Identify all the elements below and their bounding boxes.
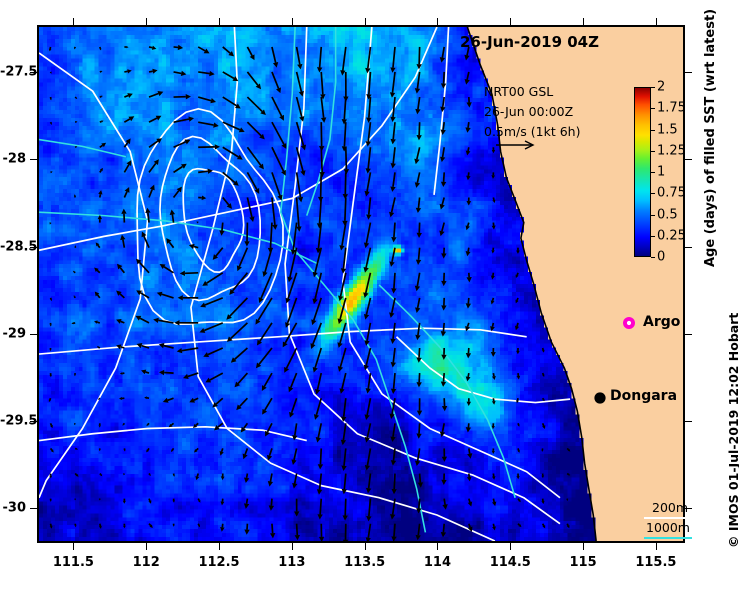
current-vector bbox=[366, 197, 371, 219]
colorbar-tick bbox=[651, 87, 655, 88]
current-vector bbox=[198, 47, 209, 53]
current-vector bbox=[124, 46, 128, 48]
current-vector bbox=[244, 474, 249, 484]
colorbar-tick bbox=[651, 172, 655, 173]
current-vector bbox=[256, 348, 272, 368]
current-vector bbox=[389, 197, 395, 217]
current-vector bbox=[146, 423, 149, 426]
current-vector bbox=[363, 248, 370, 273]
current-vector bbox=[441, 474, 446, 486]
current-vector bbox=[174, 45, 184, 50]
current-vector bbox=[492, 423, 495, 429]
current-vector bbox=[342, 122, 347, 151]
x-tick-label: 113 bbox=[278, 555, 305, 570]
current-vector bbox=[124, 116, 134, 122]
annotation-line-2: 26-Jun 00:00Z bbox=[484, 104, 573, 119]
bathy-legend-1000m-line bbox=[644, 537, 692, 539]
y-tick-label: -29 bbox=[0, 326, 26, 341]
colorbar-tick bbox=[651, 130, 655, 131]
current-vector bbox=[50, 423, 53, 428]
current-vector bbox=[391, 373, 396, 394]
current-vector bbox=[390, 323, 395, 344]
current-vector bbox=[491, 273, 495, 280]
current-vector bbox=[51, 171, 53, 172]
current-vector bbox=[468, 499, 473, 507]
current-vector bbox=[149, 474, 151, 476]
x-tick bbox=[146, 543, 147, 550]
current-vector bbox=[467, 448, 472, 458]
current-vector bbox=[97, 346, 100, 348]
current-vector bbox=[365, 448, 371, 470]
y-tick bbox=[30, 508, 37, 509]
current-vector bbox=[272, 47, 278, 68]
current-vector bbox=[466, 348, 471, 358]
current-vector bbox=[100, 96, 103, 98]
x-tick bbox=[437, 18, 438, 25]
current-vector bbox=[244, 499, 249, 509]
current-vector bbox=[542, 423, 545, 429]
current-vector bbox=[366, 524, 371, 541]
current-vector bbox=[339, 373, 345, 394]
colorbar-tick-label: 0.5 bbox=[657, 207, 678, 222]
current-vector bbox=[296, 197, 301, 231]
current-vector bbox=[389, 298, 395, 318]
current-vector bbox=[466, 97, 471, 108]
current-vector bbox=[122, 423, 124, 425]
current-vector bbox=[119, 397, 124, 400]
current-vector bbox=[567, 499, 568, 501]
current-vector bbox=[220, 448, 224, 455]
current-vector bbox=[543, 398, 545, 401]
current-vector bbox=[96, 242, 100, 247]
current-vector bbox=[163, 398, 174, 403]
current-vector bbox=[416, 122, 421, 140]
current-vector bbox=[516, 474, 519, 480]
current-vector bbox=[99, 47, 101, 50]
current-vector bbox=[159, 370, 174, 375]
current-vector bbox=[194, 448, 198, 452]
current-vector bbox=[50, 524, 53, 529]
current-vector bbox=[200, 323, 223, 333]
current-vector bbox=[518, 499, 521, 503]
current-vector bbox=[75, 448, 78, 450]
current-vector bbox=[492, 223, 496, 230]
current-vector bbox=[71, 322, 75, 324]
bathy-legend-1000m: 1000m bbox=[646, 520, 690, 535]
current-vector bbox=[229, 273, 247, 295]
current-vector bbox=[174, 187, 182, 198]
y-tick-label: -28.5 bbox=[0, 239, 26, 254]
current-vector bbox=[141, 370, 149, 375]
argo-marker-icon bbox=[621, 315, 637, 331]
current-vector bbox=[517, 448, 520, 452]
current-vector bbox=[391, 122, 396, 144]
current-vector bbox=[198, 195, 206, 200]
current-vector bbox=[100, 143, 106, 147]
current-vector bbox=[99, 499, 100, 501]
current-vector bbox=[291, 448, 296, 465]
current-vector bbox=[220, 524, 225, 532]
current-vector bbox=[75, 146, 77, 147]
current-vector bbox=[319, 122, 324, 151]
current-vector bbox=[317, 47, 322, 73]
current-vector bbox=[198, 71, 214, 76]
current-vector bbox=[241, 423, 248, 432]
current-vector bbox=[220, 499, 224, 506]
map-figure: 26-Jun-2019 04Z NRT00 GSL 26-Jun 00:00Z … bbox=[0, 0, 739, 592]
current-vector bbox=[415, 97, 420, 114]
current-vector bbox=[75, 245, 76, 247]
current-vector bbox=[466, 248, 471, 257]
current-vector bbox=[541, 448, 543, 451]
current-vector bbox=[416, 373, 421, 387]
velocity-scale-arrow-icon bbox=[494, 138, 540, 152]
current-vector bbox=[237, 248, 248, 272]
current-vector bbox=[492, 524, 496, 531]
current-vector bbox=[318, 448, 323, 469]
current-vector bbox=[74, 295, 75, 298]
y-tick bbox=[685, 159, 692, 160]
current-vector bbox=[99, 423, 101, 427]
x-tick bbox=[146, 18, 147, 25]
current-vector bbox=[341, 448, 346, 471]
x-tick-label: 112.5 bbox=[198, 555, 239, 570]
colorbar-tick-label: 0 bbox=[657, 250, 665, 265]
map-plot-area bbox=[37, 25, 685, 543]
current-vector bbox=[189, 398, 198, 403]
colorbar-title: Age (days) of filled SST (wrt latest) bbox=[703, 9, 718, 267]
annotation-line-3: 0.5m/s (1kt 6h) bbox=[484, 124, 580, 139]
y-tick bbox=[685, 72, 692, 73]
current-vector bbox=[366, 499, 371, 522]
current-vector bbox=[414, 147, 419, 164]
bathy-legend-200m: 200m bbox=[652, 500, 688, 515]
x-tick bbox=[365, 543, 366, 550]
current-vector bbox=[120, 372, 125, 375]
current-vector bbox=[343, 524, 348, 541]
current-vector bbox=[247, 97, 265, 115]
current-vector bbox=[415, 172, 420, 187]
colorbar-gradient bbox=[634, 87, 651, 257]
current-vector bbox=[390, 172, 395, 192]
current-vector bbox=[390, 97, 395, 122]
colorbar: 00.250.50.7511.251.51.752 Age (days) of … bbox=[634, 87, 714, 272]
current-vector bbox=[49, 47, 52, 51]
current-vector bbox=[95, 291, 100, 297]
y-tick-label: -27.5 bbox=[0, 65, 26, 80]
current-vector bbox=[515, 323, 519, 330]
current-vector bbox=[247, 197, 254, 222]
current-vector bbox=[144, 396, 149, 399]
current-vector bbox=[390, 423, 395, 442]
current-vector bbox=[284, 348, 296, 373]
current-vector bbox=[268, 223, 273, 254]
colorbar-tick-label: 1.75 bbox=[657, 101, 686, 116]
current-vector bbox=[289, 398, 297, 417]
current-vector bbox=[198, 499, 200, 503]
current-vector bbox=[392, 474, 397, 495]
current-vector bbox=[317, 197, 322, 228]
current-vector bbox=[415, 298, 420, 313]
current-vector bbox=[391, 524, 396, 541]
current-vector bbox=[440, 197, 445, 209]
current-vector bbox=[343, 72, 348, 102]
current-vector bbox=[50, 323, 52, 327]
current-vector bbox=[272, 72, 281, 93]
x-tick bbox=[510, 18, 511, 25]
current-vector bbox=[149, 159, 159, 172]
current-vector bbox=[94, 321, 100, 324]
x-tick bbox=[583, 543, 584, 550]
current-vector bbox=[492, 448, 495, 454]
current-vector bbox=[442, 448, 447, 461]
x-tick bbox=[73, 18, 74, 25]
current-vector bbox=[173, 499, 175, 503]
current-vector bbox=[120, 235, 125, 248]
current-vector bbox=[363, 273, 370, 298]
current-vector bbox=[244, 223, 249, 247]
current-vector bbox=[166, 238, 173, 248]
current-vector bbox=[174, 94, 191, 99]
current-vector bbox=[50, 499, 52, 502]
current-vector bbox=[417, 398, 422, 416]
colorbar-tick bbox=[651, 215, 655, 216]
current-vector bbox=[466, 197, 471, 205]
current-vector bbox=[74, 373, 76, 376]
ssh-contour bbox=[39, 328, 527, 354]
colorbar-tick-label: 1.25 bbox=[657, 143, 686, 158]
current-vector bbox=[391, 273, 396, 294]
y-tick bbox=[30, 334, 37, 335]
current-vector bbox=[466, 423, 471, 432]
y-tick bbox=[30, 159, 37, 160]
current-vector bbox=[466, 172, 470, 180]
current-vector bbox=[465, 122, 470, 133]
current-vector bbox=[341, 398, 346, 422]
current-vector bbox=[116, 291, 124, 298]
current-vector bbox=[415, 273, 420, 291]
current-vector bbox=[441, 273, 446, 286]
current-vector bbox=[223, 47, 234, 56]
current-vector bbox=[516, 398, 519, 403]
current-vector bbox=[247, 47, 254, 60]
y-tick bbox=[685, 334, 692, 335]
x-tick-label: 115 bbox=[569, 555, 596, 570]
current-vector bbox=[173, 474, 175, 477]
colorbar-tick bbox=[651, 257, 655, 258]
current-vector bbox=[314, 398, 321, 420]
current-vector bbox=[364, 398, 370, 420]
current-vector bbox=[295, 524, 300, 541]
current-vector bbox=[212, 398, 222, 407]
current-vector bbox=[116, 319, 124, 324]
current-vector bbox=[466, 273, 471, 283]
current-vector bbox=[198, 144, 220, 149]
current-vector bbox=[313, 348, 322, 373]
current-vector bbox=[366, 97, 371, 123]
current-vector bbox=[123, 499, 126, 504]
current-vector bbox=[441, 323, 446, 337]
current-vector bbox=[270, 524, 275, 539]
current-vector bbox=[50, 122, 51, 125]
colorbar-tick-label: 0.25 bbox=[657, 228, 686, 243]
current-vector bbox=[340, 47, 346, 76]
x-tick-label: 114 bbox=[424, 555, 451, 570]
x-tick bbox=[583, 18, 584, 25]
current-vector bbox=[50, 97, 52, 100]
ssh-contour bbox=[39, 27, 437, 250]
y-tick bbox=[685, 247, 692, 248]
colorbar-tick bbox=[651, 236, 655, 237]
current-vector bbox=[171, 448, 174, 452]
current-vector bbox=[265, 423, 272, 436]
current-vector bbox=[149, 116, 161, 122]
current-vector bbox=[516, 248, 520, 254]
current-vector bbox=[235, 373, 248, 387]
current-vector bbox=[491, 348, 496, 357]
current-vector bbox=[257, 323, 272, 346]
current-vector bbox=[342, 197, 347, 225]
current-vector bbox=[467, 398, 471, 406]
current-vector bbox=[441, 172, 446, 187]
current-vector bbox=[567, 524, 570, 529]
current-vector bbox=[202, 273, 222, 286]
current-vector bbox=[390, 72, 395, 98]
ssh-contour bbox=[434, 27, 449, 195]
current-vector bbox=[316, 423, 322, 442]
current-vector bbox=[221, 474, 225, 481]
current-vector bbox=[515, 298, 518, 303]
current-vector bbox=[223, 197, 232, 208]
current-vector bbox=[170, 209, 175, 222]
current-vector bbox=[51, 72, 52, 74]
dongara-label: Dongara bbox=[610, 388, 677, 404]
current-vector bbox=[136, 316, 150, 323]
current-vector bbox=[117, 264, 124, 273]
bathy-legend-200m-line bbox=[644, 517, 692, 519]
current-vector bbox=[75, 97, 77, 99]
current-vector bbox=[74, 524, 76, 528]
current-vector bbox=[100, 168, 103, 172]
current-vector bbox=[100, 71, 103, 73]
current-vector bbox=[364, 223, 371, 249]
current-vector bbox=[320, 72, 325, 99]
current-vector bbox=[418, 474, 423, 488]
current-vector bbox=[415, 323, 420, 340]
current-vector bbox=[491, 248, 494, 254]
current-vector bbox=[121, 209, 126, 223]
current-vector bbox=[441, 248, 446, 259]
x-tick-label: 112 bbox=[133, 555, 160, 570]
current-vector bbox=[149, 91, 163, 97]
current-vector bbox=[196, 222, 198, 223]
current-vector bbox=[180, 271, 198, 276]
current-vector bbox=[195, 474, 199, 481]
current-vector bbox=[269, 499, 274, 511]
current-vector bbox=[247, 147, 263, 169]
map-overlay bbox=[39, 27, 683, 541]
current-vector bbox=[100, 120, 104, 122]
colorbar-tick bbox=[651, 193, 655, 194]
current-vector bbox=[491, 298, 495, 305]
current-vector bbox=[223, 147, 243, 159]
current-vector bbox=[231, 348, 248, 363]
x-tick bbox=[656, 18, 657, 25]
current-vector bbox=[272, 97, 284, 121]
current-vector bbox=[213, 248, 223, 260]
current-vector bbox=[416, 524, 421, 541]
current-vector bbox=[542, 373, 544, 377]
current-vector bbox=[124, 93, 132, 98]
current-vector bbox=[74, 194, 76, 197]
current-vector bbox=[440, 47, 445, 63]
current-vector bbox=[223, 97, 241, 108]
colorbar-tick-label: 1.5 bbox=[657, 122, 678, 137]
current-vector bbox=[440, 97, 445, 112]
current-vector bbox=[417, 223, 422, 238]
current-vector bbox=[174, 71, 187, 76]
current-vector bbox=[541, 499, 544, 504]
current-vector bbox=[236, 398, 247, 410]
current-vector bbox=[74, 423, 75, 425]
current-vector bbox=[74, 47, 75, 49]
current-vector bbox=[366, 474, 371, 494]
current-vector bbox=[146, 448, 149, 452]
current-vector bbox=[339, 223, 345, 251]
current-vector bbox=[517, 373, 521, 379]
current-vector bbox=[99, 448, 101, 451]
x-tick bbox=[292, 18, 293, 25]
current-vector bbox=[465, 72, 470, 85]
current-vector bbox=[49, 398, 51, 402]
dongara-marker-icon bbox=[592, 390, 608, 406]
current-vector bbox=[492, 197, 495, 203]
current-vector bbox=[244, 524, 249, 535]
x-tick bbox=[219, 543, 220, 550]
x-tick bbox=[73, 543, 74, 550]
current-vector bbox=[124, 187, 129, 197]
current-vector bbox=[391, 147, 396, 168]
x-tick bbox=[292, 543, 293, 550]
current-vector bbox=[124, 448, 126, 451]
current-vector bbox=[391, 348, 396, 367]
current-vector bbox=[518, 524, 521, 527]
current-vector bbox=[341, 423, 346, 445]
plot-title: 26-Jun-2019 04Z bbox=[460, 33, 599, 51]
current-vector bbox=[243, 448, 248, 459]
current-vector bbox=[391, 448, 396, 465]
current-vector bbox=[441, 298, 446, 311]
current-vector bbox=[50, 298, 52, 301]
y-tick-label: -28 bbox=[0, 152, 26, 167]
current-vector bbox=[466, 223, 470, 231]
x-tick bbox=[437, 543, 438, 550]
current-vector bbox=[343, 172, 348, 199]
current-vector bbox=[247, 122, 264, 139]
current-vector bbox=[272, 147, 286, 175]
current-vector bbox=[272, 122, 286, 149]
current-vector bbox=[183, 373, 198, 379]
x-tick-label: 114.5 bbox=[490, 555, 531, 570]
current-vector bbox=[297, 72, 304, 97]
current-vector bbox=[297, 47, 303, 69]
current-vector bbox=[267, 448, 272, 460]
current-vector bbox=[149, 185, 155, 198]
current-vector bbox=[73, 271, 75, 273]
current-vector bbox=[203, 348, 222, 357]
current-vector bbox=[319, 524, 324, 541]
colorbar-tick-label: 0.75 bbox=[657, 186, 686, 201]
